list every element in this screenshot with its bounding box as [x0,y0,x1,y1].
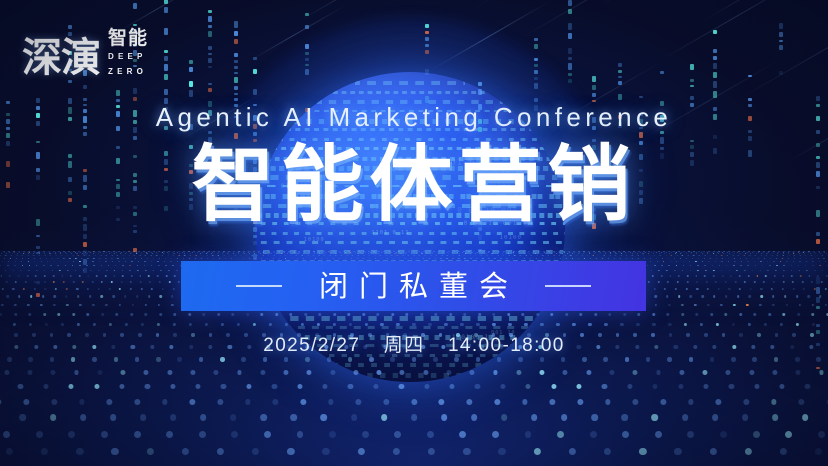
data-rain-cell [748,75,752,77]
floor-dot [134,251,135,252]
floor-dot [257,255,258,256]
data-rain-cell [208,66,212,68]
floor-dot [335,255,336,256]
floor-dot [720,431,727,438]
floor-dot [369,251,370,252]
data-rain-cell [816,277,820,284]
floor-dot [147,258,148,259]
floor-dot [733,304,736,307]
floor-dot [754,251,755,252]
data-rain-cell [133,12,137,15]
data-rain-cell [83,268,87,273]
data-rain-cell [816,271,820,274]
floor-dot [599,253,600,254]
floor-dot [771,399,777,405]
floor-dot [105,261,106,262]
floor-dot [129,265,131,267]
floor-dot [53,304,56,307]
floor-dot [419,251,420,252]
data-rain-cell [568,79,572,83]
floor-dot [289,251,290,252]
floor-dot [399,384,404,389]
floor-dot [740,258,741,259]
floor-dot [780,384,785,389]
floor-dot [362,253,363,254]
floor-dot [100,252,101,253]
data-rain-cell [816,287,820,294]
floor-dot [187,252,188,253]
logo-mark-text: 深演 [22,38,100,78]
floor-dot [166,252,167,253]
floor-dot [664,251,665,252]
floor-dot [86,261,87,262]
floor-dot [145,270,147,272]
floor-dot [442,252,443,253]
data-rain-cell [164,28,168,35]
floor-dot [521,313,524,316]
floor-dot [99,251,100,252]
floor-dot [689,357,694,362]
floor-dot [219,258,220,259]
floor-dot [749,370,754,375]
floor-dot [788,253,789,254]
floor-dot [305,357,310,362]
globe-latitude-band [255,250,565,254]
floor-dot [783,270,785,272]
floor-dot [324,255,325,256]
floor-dot [793,253,794,254]
floor-dot [222,253,223,254]
floor-dot [224,251,225,252]
floor-dot [713,270,715,272]
floor-dot [364,323,367,326]
floor-dot [92,281,94,283]
data-rain-cell [133,3,137,9]
floor-dot [274,255,275,256]
floor-dot [644,251,645,252]
floor-dot [419,255,420,256]
floor-dot [644,251,645,252]
floor-dot [50,253,51,254]
floor-dot [444,251,445,252]
floor-dot [825,304,828,307]
floor-dot [164,261,165,262]
floor-dot [157,275,159,277]
floor-dot [327,357,332,362]
floor-dot [318,255,319,256]
floor-dot [231,258,232,259]
floor-dot [664,253,665,254]
floor-dot [559,251,560,252]
floor-dot [639,448,646,455]
data-rain-cell [36,300,40,303]
data-rain-cell [68,92,72,95]
floor-dot [551,253,552,254]
logo-wordmark: 智能 DEEP ZERO [108,29,148,77]
floor-dot [755,265,757,267]
floor-dot [697,270,699,272]
floor-dot [156,255,157,256]
floor-dot [392,258,393,259]
data-rain-cell [305,96,309,99]
floor-dot [118,261,119,262]
floor-dot [533,448,540,455]
floor-dot [145,384,150,389]
floor-dot [57,258,58,259]
floor-dot [645,252,646,253]
floor-dot [634,251,635,252]
floor-dot [347,313,350,316]
floor-dot [499,251,500,252]
floor-dot [172,288,174,290]
floor-dot [101,281,103,283]
floor-dot [149,251,150,252]
data-rain-cell [234,39,238,44]
floor-dot [531,255,532,256]
data-rain-cell [36,257,40,260]
floor-dot-row [0,251,828,252]
floor-dot [710,258,711,259]
floor-dot [53,281,55,283]
data-rain-cell [305,38,309,41]
floor-dot [151,252,152,253]
floor-dot [400,253,401,254]
floor-dot [217,252,218,253]
data-rain-cell [234,21,238,28]
floor-dot [602,258,603,259]
floor-dot [369,258,370,259]
floor-dot [692,258,693,259]
floor-dot [752,258,753,259]
floor-dot [358,448,365,455]
floor-dot [771,255,772,256]
floor-dot [551,384,556,389]
brand-logo[interactable]: 深演 智能 DEEP ZERO [22,28,148,78]
floor-dot [14,251,15,252]
data-rain-cell [133,242,137,245]
floor-dot [287,253,288,254]
floor-dot [141,253,142,254]
floor-dot [231,313,234,316]
floor-dot [674,270,676,272]
floor-dot [492,431,499,438]
floor-dot [598,255,599,256]
floor-dot [79,304,82,307]
floor-dot [334,251,335,252]
floor-dot [742,414,748,420]
data-rain-cell [592,76,596,82]
floor-dot [77,323,80,326]
globe-latitude-band [355,373,466,378]
data-rain-cell [208,46,212,51]
data-rain-cell [618,63,622,67]
light-streak [470,0,652,11]
floor-dot [92,261,93,262]
floor-dot [271,253,272,254]
floor-dot [434,258,435,259]
floor-dot [18,275,20,277]
floor-dot [116,252,117,253]
floor-dot [789,251,790,252]
floor-dot [459,251,460,252]
floor-dot [221,323,224,326]
floor-dot [759,251,760,252]
floor-dot [254,251,255,252]
floor-dot [574,252,575,253]
floor-dot [572,253,573,254]
floor-dot [538,252,539,253]
floor-dot [176,270,178,272]
floor-dot [112,261,113,262]
floor-dot [67,270,69,272]
floor-dot [699,255,700,256]
floor-dot [689,261,690,262]
floor-dot [823,258,824,259]
floor-dot [482,252,483,253]
floor-dot [659,251,660,252]
floor-dot [567,253,568,254]
floor-dot [653,288,655,290]
floor-dot [249,253,250,254]
floor-dot [51,370,56,375]
data-rain-cell [779,40,783,43]
floor-dot [621,253,622,254]
floor-dot [374,255,375,256]
floor-dot [399,251,400,252]
floor-dot [449,251,450,252]
floor-dot [454,251,455,252]
floor-dot [151,265,153,267]
floor-dot [304,251,305,252]
floor-dot [569,252,570,253]
floor-dot [427,431,434,438]
floor-dot [554,251,555,252]
floor-dot [23,253,24,254]
floor-dot [749,251,750,252]
subtitle-banner: 闭门私董会 [181,261,646,311]
floor-dot [637,255,638,256]
floor-dot [122,275,124,277]
floor-dot [115,265,117,267]
data-rain-cell [425,44,429,48]
floor-dot [344,251,345,252]
floor-dot [318,313,321,316]
floor-dot [542,258,543,259]
floor-dot [34,252,35,253]
floor-dot [57,313,60,316]
floor-dot [724,313,727,316]
floor-dot [4,370,9,375]
floor-dot [109,323,112,326]
floor-dot [783,253,784,254]
floor-dot [726,370,731,375]
floor-dot [780,448,787,455]
floor-dot [683,265,685,267]
floor-dot [727,255,728,256]
floor-dot [195,255,196,256]
floor-dot [679,251,680,252]
floor-dot [581,255,582,256]
floor-dot [124,295,126,297]
floor-dot [94,251,95,252]
floor-dot [125,253,126,254]
floor-dot [734,251,735,252]
floor-dot [762,265,764,267]
data-rain-cell [36,287,40,290]
floor-dot [0,255,1,256]
floor-dot [299,251,300,252]
data-rain-cell [425,69,429,75]
floor-dot [479,251,480,252]
floor-dot [292,253,293,254]
data-rain-cell [568,86,572,89]
floor-dot [329,431,336,438]
globe-binary-text: 10100 [500,235,522,241]
floor-dot [400,370,405,375]
floor-dot [811,258,812,259]
light-streak [520,0,659,39]
floor-dot [134,251,135,252]
floor-dot [646,357,651,362]
floor-dot [59,251,60,252]
floor-dot [253,323,256,326]
floor-dot [302,255,303,256]
floor-dot [348,357,353,362]
floor-dot [67,255,68,256]
floor-dot [398,258,399,259]
floor-dot [167,255,168,256]
floor-dot [544,251,545,252]
floor-dot [164,251,165,252]
floor-dot [375,252,376,253]
floor-dot [605,253,606,254]
floor-dot [87,253,88,254]
floor-dot [105,252,106,253]
floor-dot [104,251,105,252]
floor-dot [190,253,191,254]
floor-dot [139,251,140,252]
floor-dot [668,323,671,326]
floor-dot [602,384,607,389]
data-rain-cell [133,248,137,251]
floor-dot [364,251,365,252]
floor-dot [458,255,459,256]
floor-dot [114,270,116,272]
floor-dot [182,252,183,253]
floor-dot [44,251,45,252]
floor-dot [728,261,729,262]
floor-dot [15,281,17,283]
floor-dot [178,281,180,283]
floor-dot [662,258,663,259]
floor-dot [153,258,154,259]
floor-dot [632,255,633,256]
floor-dot [494,258,495,259]
floor-dot [209,251,210,252]
floor-dot [438,253,439,254]
floor-dot [647,265,649,267]
floor-dot [589,251,590,252]
floor-dot [763,258,764,259]
floor-dot [594,253,595,254]
data-rain-cell [208,58,212,62]
floor-dot [44,270,46,272]
floor-dot [452,258,453,259]
floor-dot [389,253,390,254]
floor-dot [812,323,815,326]
floor-dot [384,251,385,252]
floor-dot [14,313,17,316]
floor-dot [427,253,428,254]
floor-dot [65,252,66,253]
floor-dot [44,253,45,254]
floor-dot [204,251,205,252]
floor-dot [420,313,423,316]
floor-dot [439,251,440,252]
floor-dot [19,251,20,252]
floor-dot [818,431,825,438]
floor-dot [214,370,219,375]
floor-dot [357,258,358,259]
floor-dot [792,281,794,283]
floor-dot [70,275,72,277]
data-rain-cell [816,247,820,250]
floor-dot [675,288,677,290]
floor-dot [749,255,750,256]
floor-dot [719,251,720,252]
floor-dot [375,258,376,259]
floor-dot [474,251,475,252]
data-rain-cell [305,19,309,22]
floor-dot [74,251,75,252]
floor-dot [237,323,240,326]
floor-dot [525,431,532,438]
floor-dot [536,258,537,259]
floor-dot [492,252,493,253]
floor-dot [669,261,670,262]
floor-dot [20,414,26,420]
floor-dot [411,252,412,253]
floor-dot [363,258,364,259]
floor-dot [428,448,435,455]
floor-dot [80,414,86,420]
floor-dot [54,251,55,252]
floor-dot [501,414,507,420]
floor-dot [717,252,718,253]
floor-dot [464,258,465,259]
floor-dot [681,313,684,316]
floor-dot [429,251,430,252]
data-rain-cell [305,78,309,81]
data-rain-cell [568,63,572,70]
floor-dot [268,255,269,256]
floor-dot [590,258,591,259]
floor-dot [424,384,429,389]
floor-dot [740,253,741,254]
floor-dot [702,261,703,262]
floor-dot [101,313,104,316]
data-rain-cell [618,81,622,85]
floor-dot [44,275,46,277]
floor-dot [285,255,286,256]
data-rain-cell [189,90,193,97]
floor-dot [594,251,595,252]
floor-dot [556,323,559,326]
floor-dot [0,313,2,316]
floor-dot [243,258,244,259]
floor-dot [704,258,705,259]
floor-dot [9,251,10,252]
